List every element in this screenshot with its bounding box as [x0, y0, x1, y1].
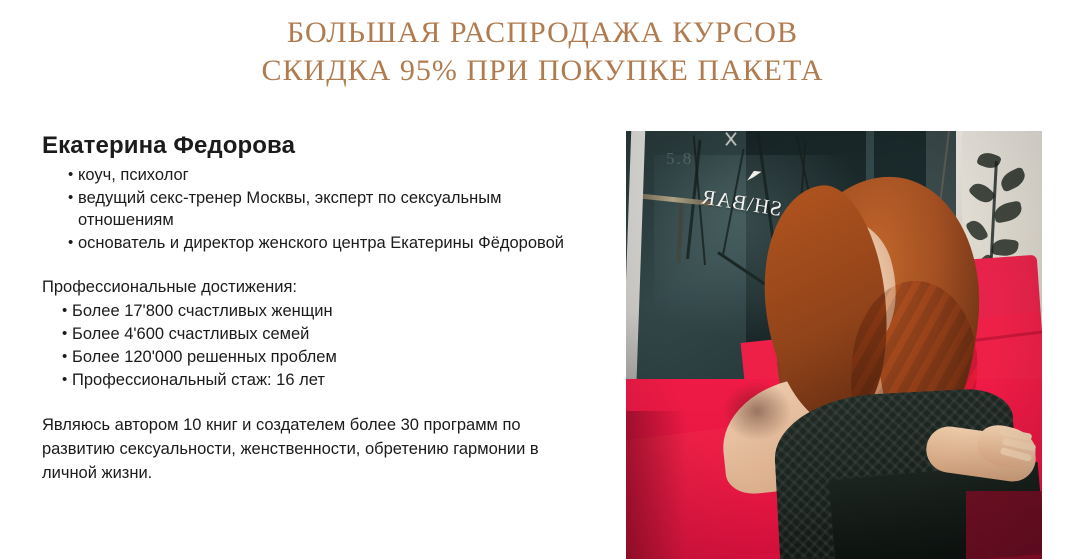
list-item: ведущий секс-тренер Москвы, эксперт по с… — [42, 187, 597, 231]
list-item: Более 4'600 счастливых семей — [42, 323, 597, 345]
list-item: коуч, психолог — [42, 164, 597, 186]
achievements-list: Более 17'800 счастливых женщин Более 4'6… — [42, 300, 597, 391]
list-item: Профессиональный стаж: 16 лет — [42, 369, 597, 391]
person-name: Екатерина Федорова — [42, 131, 597, 161]
headline-line-1: БОЛЬШАЯ РАСПРОДАЖА КУРСОВ — [0, 14, 1085, 52]
roles-list: коуч, психолог ведущий секс-тренер Москв… — [42, 164, 597, 254]
bio-block: Екатерина Федорова коуч, психолог ведущи… — [42, 131, 597, 502]
photo-vignette — [626, 131, 1042, 559]
promo-header: БОЛЬШАЯ РАСПРОДАЖА КУРСОВ СКИДКА 95% ПРИ… — [0, 14, 1085, 90]
headline-line-2: СКИДКА 95% ПРИ ПОКУПКЕ ПАКЕТА — [0, 52, 1085, 90]
achievements-title: Профессиональные достижения: — [42, 276, 597, 298]
list-item: основатель и директор женского центра Ек… — [42, 232, 597, 254]
list-item: Более 17'800 счастливых женщин — [42, 300, 597, 322]
achievements-block: Профессиональные достижения: Более 17'80… — [42, 276, 597, 391]
list-item: Более 120'000 решенных проблем — [42, 346, 597, 368]
portrait-photo: 5.8 LASH\BAR — [626, 131, 1042, 559]
closing-paragraph: Являюсь автором 10 книг и создателем бол… — [42, 413, 597, 485]
